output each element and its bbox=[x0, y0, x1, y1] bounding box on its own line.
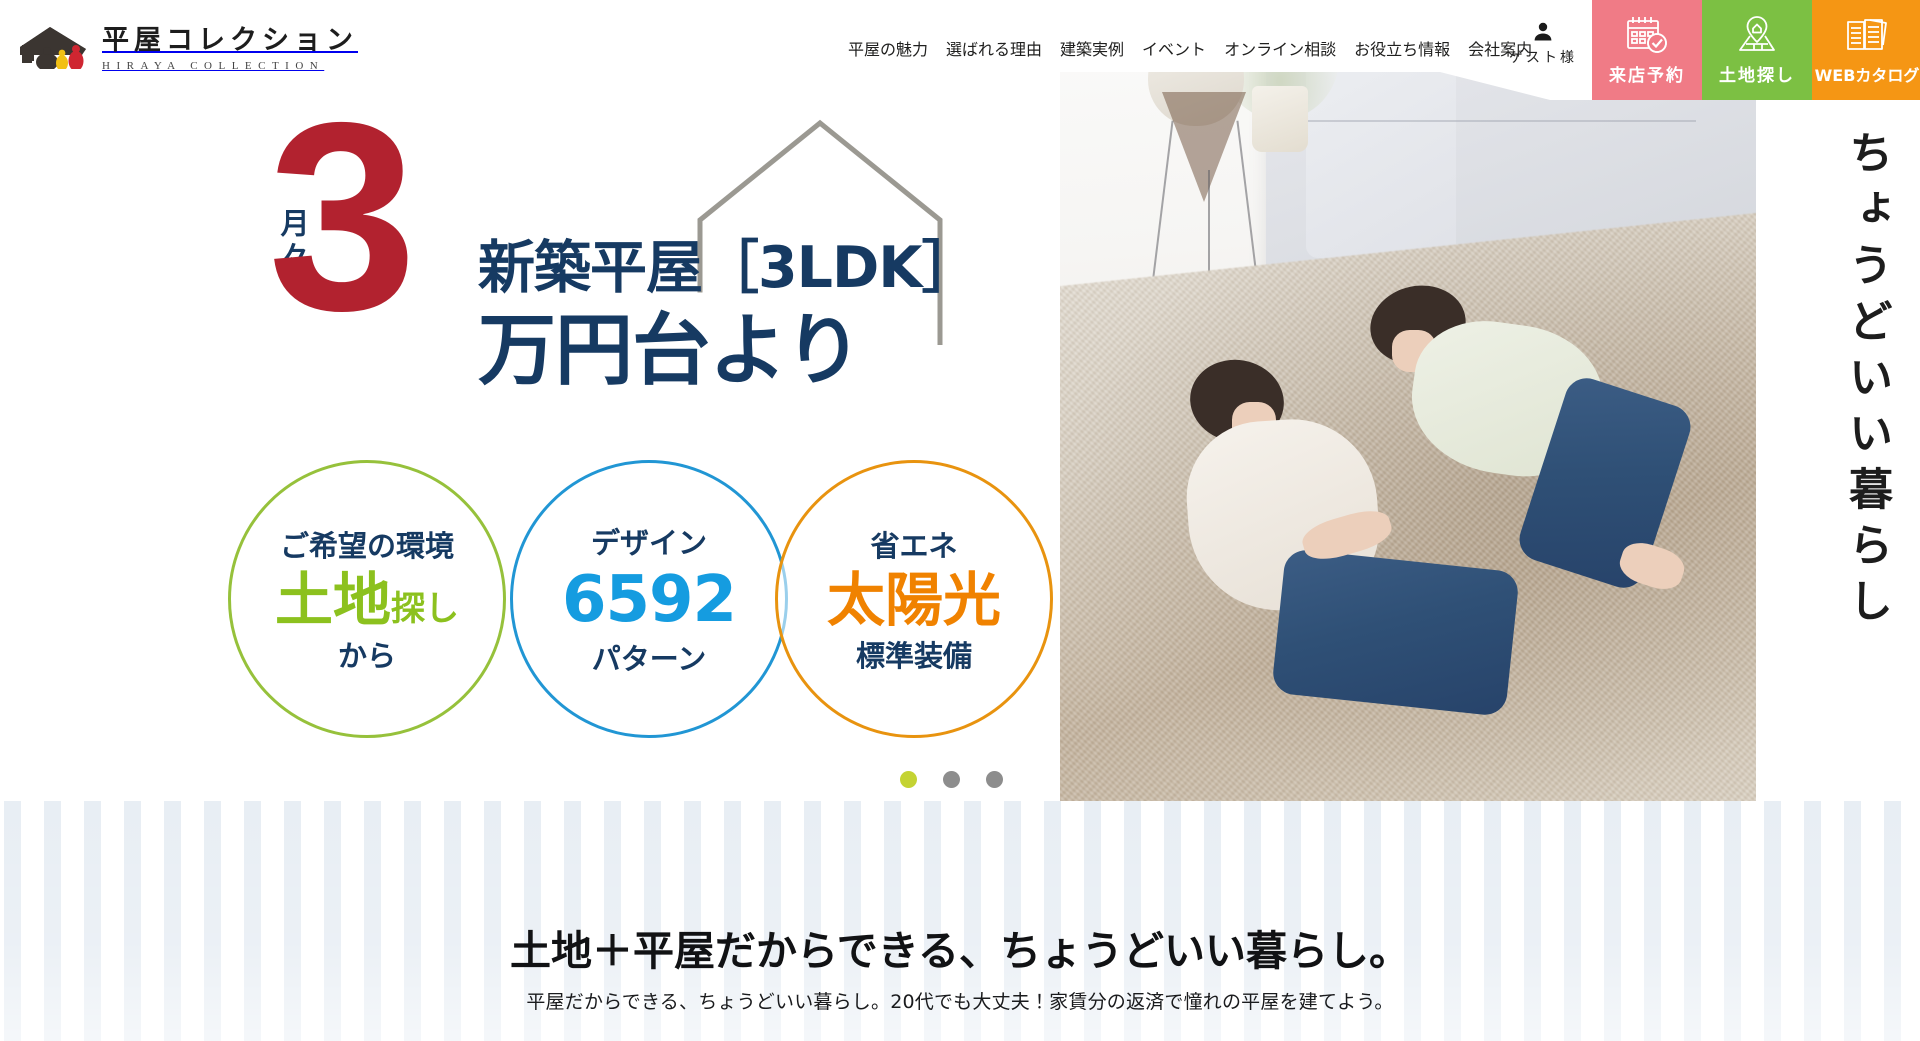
nav-item-events[interactable]: イベント bbox=[1142, 36, 1206, 60]
calendar-check-icon bbox=[1624, 14, 1670, 56]
circle-top-label: ご希望の環境 bbox=[280, 523, 454, 565]
nav-item-online[interactable]: オンライン相談 bbox=[1224, 36, 1336, 60]
house-family-logo-icon bbox=[12, 21, 90, 69]
circle-main-label: 6592 bbox=[562, 568, 736, 632]
circle-main-label: 土地 探し bbox=[275, 571, 459, 629]
logo-title-jp: 平屋コレクション bbox=[102, 18, 358, 57]
carousel-dot-1[interactable] bbox=[900, 771, 917, 788]
cta-store-reservation[interactable]: 来店予約 bbox=[1592, 0, 1702, 100]
carousel-dots[interactable] bbox=[900, 771, 1003, 788]
circle-main-big: 6592 bbox=[562, 568, 736, 632]
nav-item-reasons[interactable]: 選ばれる理由 bbox=[946, 36, 1042, 60]
cta-label: 来店予約 bbox=[1609, 61, 1685, 86]
headline-line-2: 万円台より bbox=[478, 288, 861, 400]
hero-section: 月々 3 新築平屋［3LDK］ 万円台より ご希望の環境 土地 探し から デザ… bbox=[0, 0, 1920, 801]
logo-text: 平屋コレクション HIRAYA COLLECTION bbox=[102, 18, 358, 72]
circle-main-big: 土地 bbox=[275, 571, 391, 629]
circle-bottom-label: パターン bbox=[592, 636, 707, 678]
circle-main-small: 探し bbox=[391, 592, 459, 626]
circle-bottom-label: 標準装備 bbox=[856, 633, 972, 675]
page-root: 月々 3 新築平屋［3LDK］ 万円台より ご希望の環境 土地 探し から デザ… bbox=[0, 0, 1920, 1041]
site-header: 平屋コレクション HIRAYA COLLECTION 平屋の魅力 選ばれる理由 … bbox=[0, 0, 1920, 100]
cone-vase-shape bbox=[1162, 92, 1246, 202]
nav-item-charm[interactable]: 平屋の魅力 bbox=[848, 36, 928, 60]
intro-section: 土地＋平屋だからできる、ちょうどいい暮らし。 平屋だからできる、ちょうどいい暮ら… bbox=[0, 801, 1920, 1041]
carousel-dot-2[interactable] bbox=[943, 771, 960, 788]
logo-title-en: HIRAYA COLLECTION bbox=[102, 60, 358, 72]
nav-item-examples[interactable]: 建築実例 bbox=[1060, 36, 1124, 60]
cta-label: 土地探し bbox=[1719, 61, 1795, 86]
main-navigation: 平屋の魅力 選ばれる理由 建築実例 イベント オンライン相談 お役立ち情報 会社… bbox=[848, 36, 1532, 60]
cta-land-search[interactable]: 土地探し bbox=[1702, 0, 1812, 100]
hero-photo bbox=[1020, 0, 1756, 801]
intro-title: 土地＋平屋だからできる、ちょうどいい暮らし。 bbox=[510, 917, 1410, 977]
feature-circle-land[interactable]: ご希望の環境 土地 探し から bbox=[228, 460, 506, 738]
documents-icon bbox=[1844, 15, 1890, 57]
sofa-seam bbox=[1276, 120, 1696, 122]
header-cta-group: 来店予約 土地探し bbox=[1592, 0, 1920, 100]
vertical-tagline: ちょうどいい暮らし bbox=[1770, 130, 1890, 634]
guest-label: ゲスト様 bbox=[1509, 47, 1577, 67]
person-icon bbox=[1531, 20, 1555, 44]
circle-top-label: デザイン bbox=[591, 520, 707, 562]
nav-item-resources[interactable]: お役立ち情報 bbox=[1354, 36, 1450, 60]
site-logo[interactable]: 平屋コレクション HIRAYA COLLECTION bbox=[12, 18, 358, 72]
cta-label: WEBカタログ bbox=[1815, 62, 1920, 86]
circle-top-label: 省エネ bbox=[870, 523, 957, 565]
feature-circle-design[interactable]: デザイン 6592 パターン bbox=[510, 460, 788, 738]
circle-bottom-label: から bbox=[338, 633, 396, 675]
map-pin-house-icon bbox=[1734, 14, 1780, 56]
man-jeans bbox=[1271, 548, 1520, 717]
price-amount: 3 bbox=[268, 112, 417, 321]
circle-main-label: 太陽光 bbox=[827, 571, 1001, 629]
circle-main-big: 太陽光 bbox=[827, 571, 1001, 629]
carousel-dot-3[interactable] bbox=[986, 771, 1003, 788]
feature-circle-solar[interactable]: 省エネ 太陽光 標準装備 bbox=[775, 460, 1053, 738]
intro-content: 土地＋平屋だからできる、ちょうどいい暮らし。 平屋だからできる、ちょうどいい暮ら… bbox=[0, 801, 1920, 1041]
cta-web-catalog[interactable]: WEBカタログ bbox=[1812, 0, 1920, 100]
intro-subtitle: 平屋だからできる、ちょうどいい暮らし。20代でも大丈夫！家賃分の返済で憧れの平屋… bbox=[526, 987, 1393, 1014]
guest-account[interactable]: ゲスト様 bbox=[1495, 20, 1591, 67]
